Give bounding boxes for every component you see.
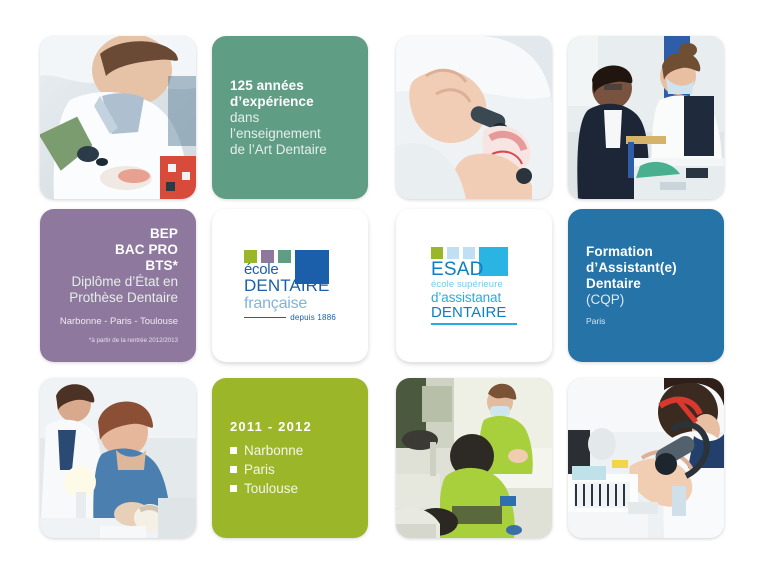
- esad-square-pale-2: [463, 247, 475, 259]
- photo-image-4: [40, 378, 196, 538]
- edf-logo: école DENTAIRE française depuis 1886: [244, 250, 336, 322]
- esad-logo: ESAD école supérieure d’assistanat DENTA…: [431, 247, 517, 325]
- sessions-location-label: Paris: [244, 460, 275, 479]
- experience-line-2: d’expérience: [230, 94, 350, 110]
- sessions-location-label: Toulouse: [244, 479, 298, 498]
- photo-tile-student-handpiece: [568, 378, 724, 538]
- bullet-square-icon: [230, 485, 237, 492]
- edf-since-row: depuis 1886: [244, 313, 336, 322]
- list-item-toulouse: Toulouse: [230, 479, 350, 498]
- esad-line-dentaire: DENTAIRE: [431, 305, 517, 321]
- edf-square-teal: [278, 250, 291, 263]
- bullet-square-icon: [230, 447, 237, 454]
- esad-line-superieure: école supérieure: [431, 279, 517, 290]
- formation-line-2: d’Assistant(e): [586, 260, 706, 276]
- sessions-location-list: Narbonne Paris Toulouse: [230, 441, 350, 498]
- tile-board: 125 années d’expérience dans l’enseignem…: [0, 0, 768, 576]
- edf-rule: [244, 317, 286, 318]
- esad-square-pale-1: [447, 247, 459, 259]
- experience-line-4: de l’Art Dentaire: [230, 142, 350, 158]
- diploma-footnote: *à partir de la rentrée 2012/2013: [58, 336, 178, 346]
- photo-image-1: [40, 36, 196, 199]
- photo-tile-hands-denture: [396, 36, 552, 199]
- list-item-paris: Paris: [230, 460, 350, 479]
- photo-image-3: [568, 36, 724, 199]
- edf-line-francaise: française: [244, 295, 336, 312]
- formation-text-block: Formation d’Assistant(e) Dentaire (CQP) …: [568, 244, 724, 327]
- experience-line-1: 125 années: [230, 78, 350, 94]
- formation-city: Paris: [586, 315, 706, 327]
- tile-125-years-experience: 125 années d’expérience dans l’enseignem…: [212, 36, 368, 199]
- photo-tile-technician-polishing: [40, 36, 196, 199]
- esad-underline: [431, 323, 517, 325]
- photo-tile-assistants-tray: [568, 36, 724, 199]
- photo-tile-assistant-with-patient: [396, 378, 552, 538]
- diplomas-text-block: BEP BAC PRO BTS* Diplôme d’État en Proth…: [40, 226, 196, 346]
- diploma-line-bts: BTS*: [58, 258, 178, 274]
- logo-card-ecole-dentaire-francaise: école DENTAIRE française depuis 1886: [212, 209, 368, 362]
- formation-line-cqp: (CQP): [586, 292, 706, 308]
- diploma-line-prothese: Prothèse Dentaire: [58, 290, 178, 306]
- sessions-text-block: 2011 - 2012 Narbonne Paris Toulouse: [212, 419, 368, 498]
- sessions-year: 2011 - 2012: [230, 419, 350, 434]
- esad-square-green: [431, 247, 443, 259]
- photo-image-2: [396, 36, 552, 199]
- formation-line-1: Formation: [586, 244, 706, 260]
- diploma-line-bacpro: BAC PRO: [58, 242, 178, 258]
- edf-since-text: depuis 1886: [290, 313, 336, 322]
- photo-image-6: [568, 378, 724, 538]
- esad-line-assistanat: d’assistanat: [431, 290, 517, 305]
- formation-line-3: Dentaire: [586, 276, 706, 292]
- diploma-cities: Narbonne - Paris - Toulouse: [58, 315, 178, 328]
- tile-diplomas: BEP BAC PRO BTS* Diplôme d’État en Proth…: [40, 209, 196, 362]
- tile-sessions-2011-2012: 2011 - 2012 Narbonne Paris Toulouse: [212, 378, 368, 538]
- diploma-line-bep: BEP: [58, 226, 178, 242]
- edf-line-dentaire: DENTAIRE: [244, 277, 336, 295]
- photo-image-5: [396, 378, 552, 538]
- experience-text-block: 125 années d’expérience dans l’enseignem…: [212, 78, 368, 158]
- list-item-narbonne: Narbonne: [230, 441, 350, 460]
- sessions-location-label: Narbonne: [244, 441, 303, 460]
- experience-line-3: dans l’enseignement: [230, 110, 350, 142]
- diploma-line-diplome: Diplôme d’État en: [58, 274, 178, 290]
- tile-formation-assistant: Formation d’Assistant(e) Dentaire (CQP) …: [568, 209, 724, 362]
- bullet-square-icon: [230, 466, 237, 473]
- logo-card-esad: ESAD école supérieure d’assistanat DENTA…: [396, 209, 552, 362]
- photo-tile-lab-bench-students: [40, 378, 196, 538]
